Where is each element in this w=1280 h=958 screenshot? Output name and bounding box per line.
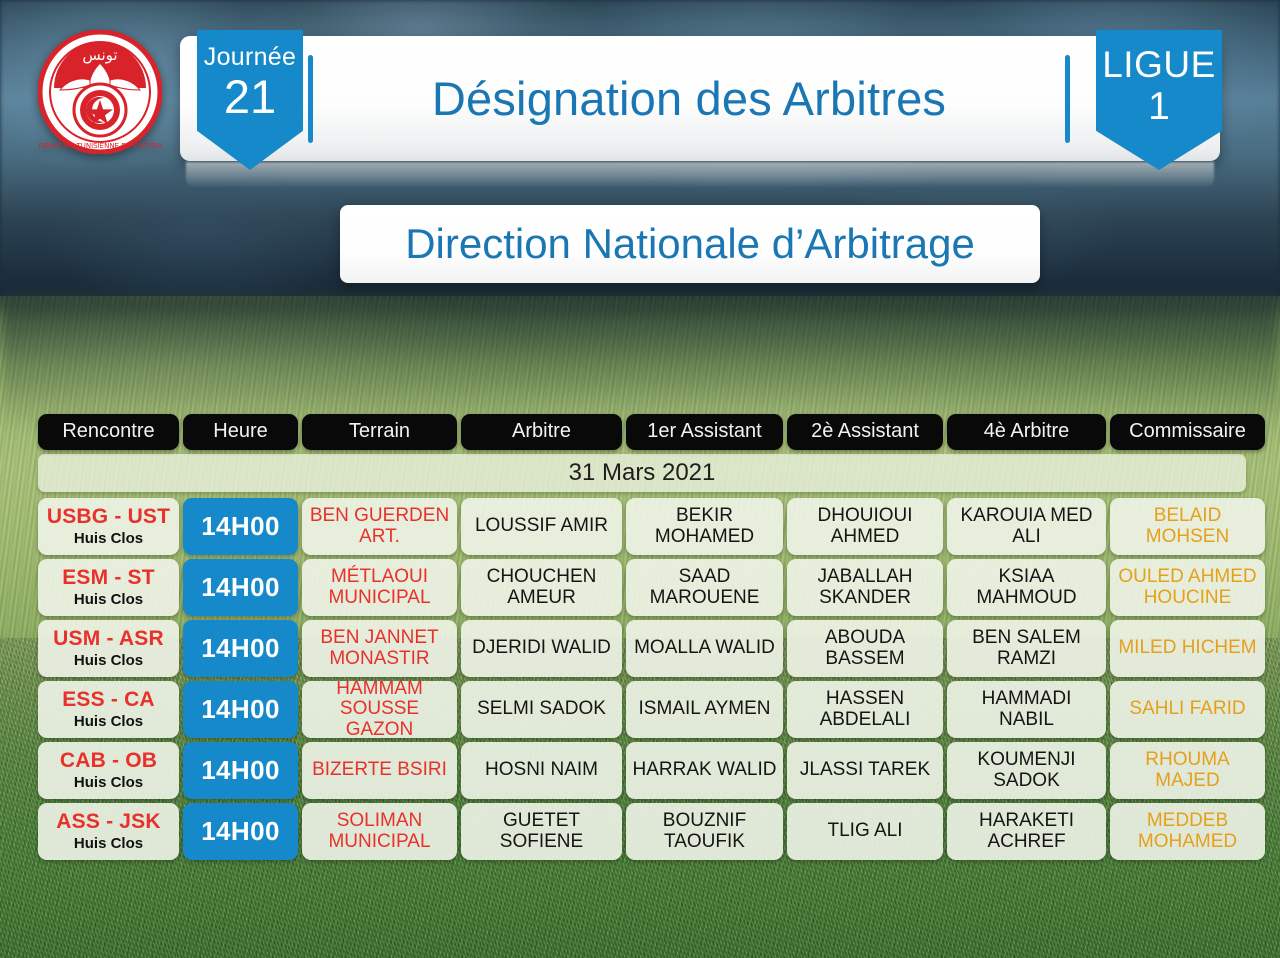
cell-arbitre4-line: KSIAA xyxy=(999,567,1055,588)
cell-assistant1-line: BOUZNIF xyxy=(663,811,746,832)
table-row: ASS - JSKHuis Clos14H00SOLIMANMUNICIPALG… xyxy=(38,803,1246,860)
cell-assistant2-line: JABALLAH xyxy=(817,567,912,588)
cell-arbitre4-line: RAMZI xyxy=(997,649,1056,670)
cell-arbitre4: HARAKETIACHREF xyxy=(947,803,1106,860)
cell-heure: 14H00 xyxy=(183,498,298,555)
cell-assistant2: DHOUIOUIAHMED xyxy=(787,498,943,555)
cell-arbitre: HOSNI NAIM xyxy=(461,742,622,799)
cell-assistant2-line: HASSEN xyxy=(826,689,904,710)
cell-assistant2-line: BASSEM xyxy=(825,649,904,670)
cell-arbitre4-line: BEN SALEM xyxy=(972,628,1081,649)
match-teams: ASS - JSK xyxy=(56,811,161,834)
cell-terrain-line: MUNICIPAL xyxy=(328,588,430,609)
cell-assistant2: JABALLAHSKANDER xyxy=(787,559,943,616)
cell-arbitre4-line: HAMMADI xyxy=(982,689,1072,710)
column-header-terrain: Terrain xyxy=(302,414,457,450)
cell-assistant1-line: BEKIR xyxy=(676,506,733,527)
column-header-assistant1: 1er Assistant xyxy=(626,414,783,450)
cell-arbitre-line: AMEUR xyxy=(507,588,576,609)
cell-commissaire-line: SAHLI FARID xyxy=(1129,699,1245,720)
ligue-label: LIGUE xyxy=(1096,44,1222,86)
cell-assistant2: JLASSI TAREK xyxy=(787,742,943,799)
cell-terrain: SOLIMANMUNICIPAL xyxy=(302,803,457,860)
cell-assistant2: TLIG ALI xyxy=(787,803,943,860)
ligue-number: 1 xyxy=(1096,86,1222,128)
match-teams: ESM - ST xyxy=(62,567,155,590)
table-row: CAB - OBHuis Clos14H00BIZERTE BSIRIHOSNI… xyxy=(38,742,1246,799)
cell-terrain-line: MÉTLAOUI xyxy=(331,567,428,588)
cell-commissaire: BELAIDMOHSEN xyxy=(1110,498,1265,555)
cell-terrain-line: MUNICIPAL xyxy=(328,832,430,853)
cell-heure: 14H00 xyxy=(183,742,298,799)
column-header-heure: Heure xyxy=(183,414,298,450)
cell-assistant1: SAADMAROUENE xyxy=(626,559,783,616)
cell-arbitre4-line: MAHMOUD xyxy=(976,588,1076,609)
header-banner: Désignation des Arbitres xyxy=(180,36,1220,161)
cell-arbitre: LOUSSIF AMIR xyxy=(461,498,622,555)
cell-commissaire: SAHLI FARID xyxy=(1110,681,1265,738)
cell-assistant1-line: ISMAIL AYMEN xyxy=(639,699,771,720)
match-note: Huis Clos xyxy=(74,775,143,791)
journee-label: Journée xyxy=(197,42,303,72)
cell-assistant1-line: MOALLA WALID xyxy=(634,638,775,659)
cell-commissaire-line: HOUCINE xyxy=(1144,588,1232,609)
cell-arbitre-line: SOFIENE xyxy=(500,832,583,853)
cell-arbitre-line: LOUSSIF AMIR xyxy=(475,516,608,537)
cell-heure: 14H00 xyxy=(183,559,298,616)
cell-terrain-line: ART. xyxy=(359,527,400,548)
cell-arbitre-line: DJERIDI WALID xyxy=(472,638,611,659)
cell-commissaire-line: MOHAMED xyxy=(1138,832,1237,853)
cell-assistant2-line: DHOUIOUI xyxy=(818,506,913,527)
cell-terrain-line: BEN GUERDEN xyxy=(310,506,449,527)
table-row: ESS - CAHuis Clos14H00HAMMAMSOUSSE GAZON… xyxy=(38,681,1246,738)
column-header-rencontre: Rencontre xyxy=(38,414,179,450)
cell-terrain: MÉTLAOUIMUNICIPAL xyxy=(302,559,457,616)
cell-assistant1: MOALLA WALID xyxy=(626,620,783,677)
cell-assistant2-line: JLASSI TAREK xyxy=(800,760,930,781)
cell-assistant2-line: ABOUDA xyxy=(825,628,905,649)
cell-assistant1-line: MOHAMED xyxy=(655,527,754,548)
match-note: Huis Clos xyxy=(74,531,143,547)
cell-terrain-line: BEN JANNET xyxy=(320,628,438,649)
cell-arbitre4: HAMMADINABIL xyxy=(947,681,1106,738)
page-title: Désignation des Arbitres xyxy=(347,71,1031,126)
match-note: Huis Clos xyxy=(74,836,143,852)
match-teams: ESS - CA xyxy=(62,689,155,712)
match-teams: CAB - OB xyxy=(60,750,157,773)
column-header-assistant2: 2è Assistant xyxy=(787,414,943,450)
cell-terrain: BEN JANNETMONASTIR xyxy=(302,620,457,677)
table-header-row: Rencontre Heure Terrain Arbitre 1er Assi… xyxy=(38,414,1246,450)
left-divider xyxy=(308,55,313,143)
column-header-arbitre: Arbitre xyxy=(461,414,622,450)
cell-rencontre: ASS - JSKHuis Clos xyxy=(38,803,179,860)
table-body: USBG - USTHuis Clos14H00BEN GUERDENART.L… xyxy=(38,498,1246,860)
match-note: Huis Clos xyxy=(74,592,143,608)
cell-terrain-line: SOLIMAN xyxy=(337,811,423,832)
cell-assistant2: ABOUDABASSEM xyxy=(787,620,943,677)
cell-terrain-line: SOUSSE GAZON xyxy=(306,699,453,738)
cell-terrain-line: HAMMAM xyxy=(336,681,423,699)
cell-commissaire-line: MOHSEN xyxy=(1146,527,1229,548)
cell-arbitre-line: HOSNI NAIM xyxy=(485,760,598,781)
cell-arbitre4-line: ACHREF xyxy=(987,832,1065,853)
match-teams: USBG - UST xyxy=(47,506,170,529)
column-header-commissaire: Commissaire xyxy=(1110,414,1265,450)
poster-root: تونس FÉDÉRATION TUNISIENNE DE FOOTBALL D… xyxy=(0,0,1280,958)
date-row: 31 Mars 2021 xyxy=(38,454,1246,492)
cell-assistant2: HASSENABDELALI xyxy=(787,681,943,738)
cell-arbitre4: KAROUIA MEDALI xyxy=(947,498,1106,555)
cell-arbitre: CHOUCHENAMEUR xyxy=(461,559,622,616)
cell-assistant2-line: TLIG ALI xyxy=(828,821,903,842)
cell-arbitre4-line: ALI xyxy=(1012,527,1041,548)
cell-commissaire: MEDDEBMOHAMED xyxy=(1110,803,1265,860)
table-row: USM - ASRHuis Clos14H00BEN JANNETMONASTI… xyxy=(38,620,1246,677)
cell-assistant1-line: MAROUENE xyxy=(650,588,760,609)
cell-commissaire-line: MILED HICHEM xyxy=(1118,638,1256,659)
cell-commissaire-line: OULED AHMED xyxy=(1118,567,1256,588)
cell-arbitre-line: SELMI SADOK xyxy=(477,699,606,720)
cell-assistant1-line: TAOUFIK xyxy=(664,832,745,853)
cell-arbitre4: BEN SALEMRAMZI xyxy=(947,620,1106,677)
cell-assistant2-line: AHMED xyxy=(831,527,900,548)
cell-rencontre: USBG - USTHuis Clos xyxy=(38,498,179,555)
cell-rencontre: ESS - CAHuis Clos xyxy=(38,681,179,738)
cell-terrain-line: BIZERTE BSIRI xyxy=(312,760,447,781)
cell-arbitre4-line: KAROUIA MED xyxy=(961,506,1093,527)
right-divider xyxy=(1065,55,1070,143)
cell-arbitre: DJERIDI WALID xyxy=(461,620,622,677)
cell-assistant1: HARRAK WALID xyxy=(626,742,783,799)
cell-terrain: BIZERTE BSIRI xyxy=(302,742,457,799)
cell-assistant1: BEKIRMOHAMED xyxy=(626,498,783,555)
column-header-arbitre4: 4è Arbitre xyxy=(947,414,1106,450)
ftf-logo: تونس FÉDÉRATION TUNISIENNE DE FOOTBALL xyxy=(38,30,162,154)
cell-arbitre4: KOUMENJISADOK xyxy=(947,742,1106,799)
cell-assistant1: BOUZNIFTAOUFIK xyxy=(626,803,783,860)
cell-assistant1: ISMAIL AYMEN xyxy=(626,681,783,738)
cell-arbitre: SELMI SADOK xyxy=(461,681,622,738)
svg-text:تونس: تونس xyxy=(82,46,117,64)
cell-assistant1-line: HARRAK WALID xyxy=(633,760,777,781)
cell-heure: 14H00 xyxy=(183,803,298,860)
cell-commissaire-line: MEDDEB xyxy=(1147,811,1228,832)
cell-assistant2-line: SKANDER xyxy=(819,588,911,609)
cell-arbitre: GUETETSOFIENE xyxy=(461,803,622,860)
cell-rencontre: ESM - STHuis Clos xyxy=(38,559,179,616)
match-note: Huis Clos xyxy=(74,653,143,669)
cell-rencontre: CAB - OBHuis Clos xyxy=(38,742,179,799)
subtitle-banner: Direction Nationale d’Arbitrage xyxy=(340,205,1040,283)
designations-table: Rencontre Heure Terrain Arbitre 1er Assi… xyxy=(38,414,1246,864)
cell-heure: 14H00 xyxy=(183,681,298,738)
journee-number: 21 xyxy=(197,72,303,122)
cell-arbitre4: KSIAAMAHMOUD xyxy=(947,559,1106,616)
cell-terrain: BEN GUERDENART. xyxy=(302,498,457,555)
match-note: Huis Clos xyxy=(74,714,143,730)
cell-arbitre4-line: KOUMENJI xyxy=(977,750,1075,771)
table-row: ESM - STHuis Clos14H00MÉTLAOUIMUNICIPALC… xyxy=(38,559,1246,616)
cell-assistant2-line: ABDELALI xyxy=(820,710,911,731)
cell-heure: 14H00 xyxy=(183,620,298,677)
cell-commissaire: OULED AHMEDHOUCINE xyxy=(1110,559,1265,616)
cell-terrain-line: MONASTIR xyxy=(329,649,429,670)
cell-rencontre: USM - ASRHuis Clos xyxy=(38,620,179,677)
cell-arbitre4-line: SADOK xyxy=(993,771,1060,792)
cell-commissaire-line: BELAID xyxy=(1154,506,1222,527)
cell-arbitre-line: CHOUCHEN xyxy=(487,567,597,588)
cell-arbitre-line: GUETET xyxy=(503,811,580,832)
cell-arbitre4-line: HARAKETI xyxy=(979,811,1074,832)
cell-commissaire-line: RHOUMA MAJED xyxy=(1114,750,1261,791)
match-teams: USM - ASR xyxy=(53,628,164,651)
cell-assistant1-line: SAAD xyxy=(679,567,731,588)
cell-arbitre4-line: NABIL xyxy=(999,710,1054,731)
subtitle-text: Direction Nationale d’Arbitrage xyxy=(405,220,975,268)
cell-commissaire: RHOUMA MAJED xyxy=(1110,742,1265,799)
cell-terrain: HAMMAMSOUSSE GAZON xyxy=(302,681,457,738)
svg-text:FÉDÉRATION TUNISIENNE DE FOOTB: FÉDÉRATION TUNISIENNE DE FOOTBALL xyxy=(38,141,162,150)
cell-commissaire: MILED HICHEM xyxy=(1110,620,1265,677)
table-row: USBG - USTHuis Clos14H00BEN GUERDENART.L… xyxy=(38,498,1246,555)
